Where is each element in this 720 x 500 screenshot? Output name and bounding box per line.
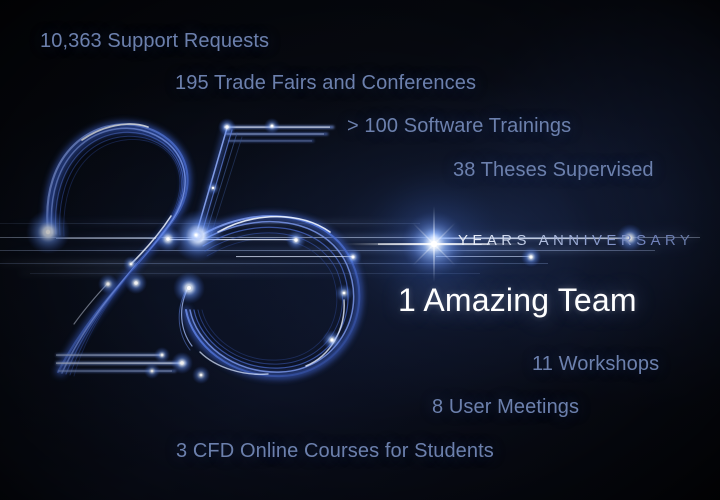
stat-theses-supervised: 38 Theses Supervised	[453, 159, 654, 182]
amazing-team-headline: 1 Amazing Team	[398, 282, 637, 319]
stat-trade-fairs: 195 Trade Fairs and Conferences	[175, 72, 476, 95]
stat-software-trainings: > 100 Software Trainings	[347, 115, 571, 138]
stat-cfd-online-courses: 3 CFD Online Courses for Students	[176, 440, 494, 463]
anniversary-tagline: YEARS ANNIVERSARY	[458, 232, 694, 249]
stat-workshops: 11 Workshops	[532, 353, 659, 376]
stat-user-meetings: 8 User Meetings	[432, 396, 579, 419]
stat-support-requests: 10,363 Support Requests	[40, 30, 269, 53]
anniversary-poster: 10,363 Support Requests 195 Trade Fairs …	[0, 0, 720, 500]
